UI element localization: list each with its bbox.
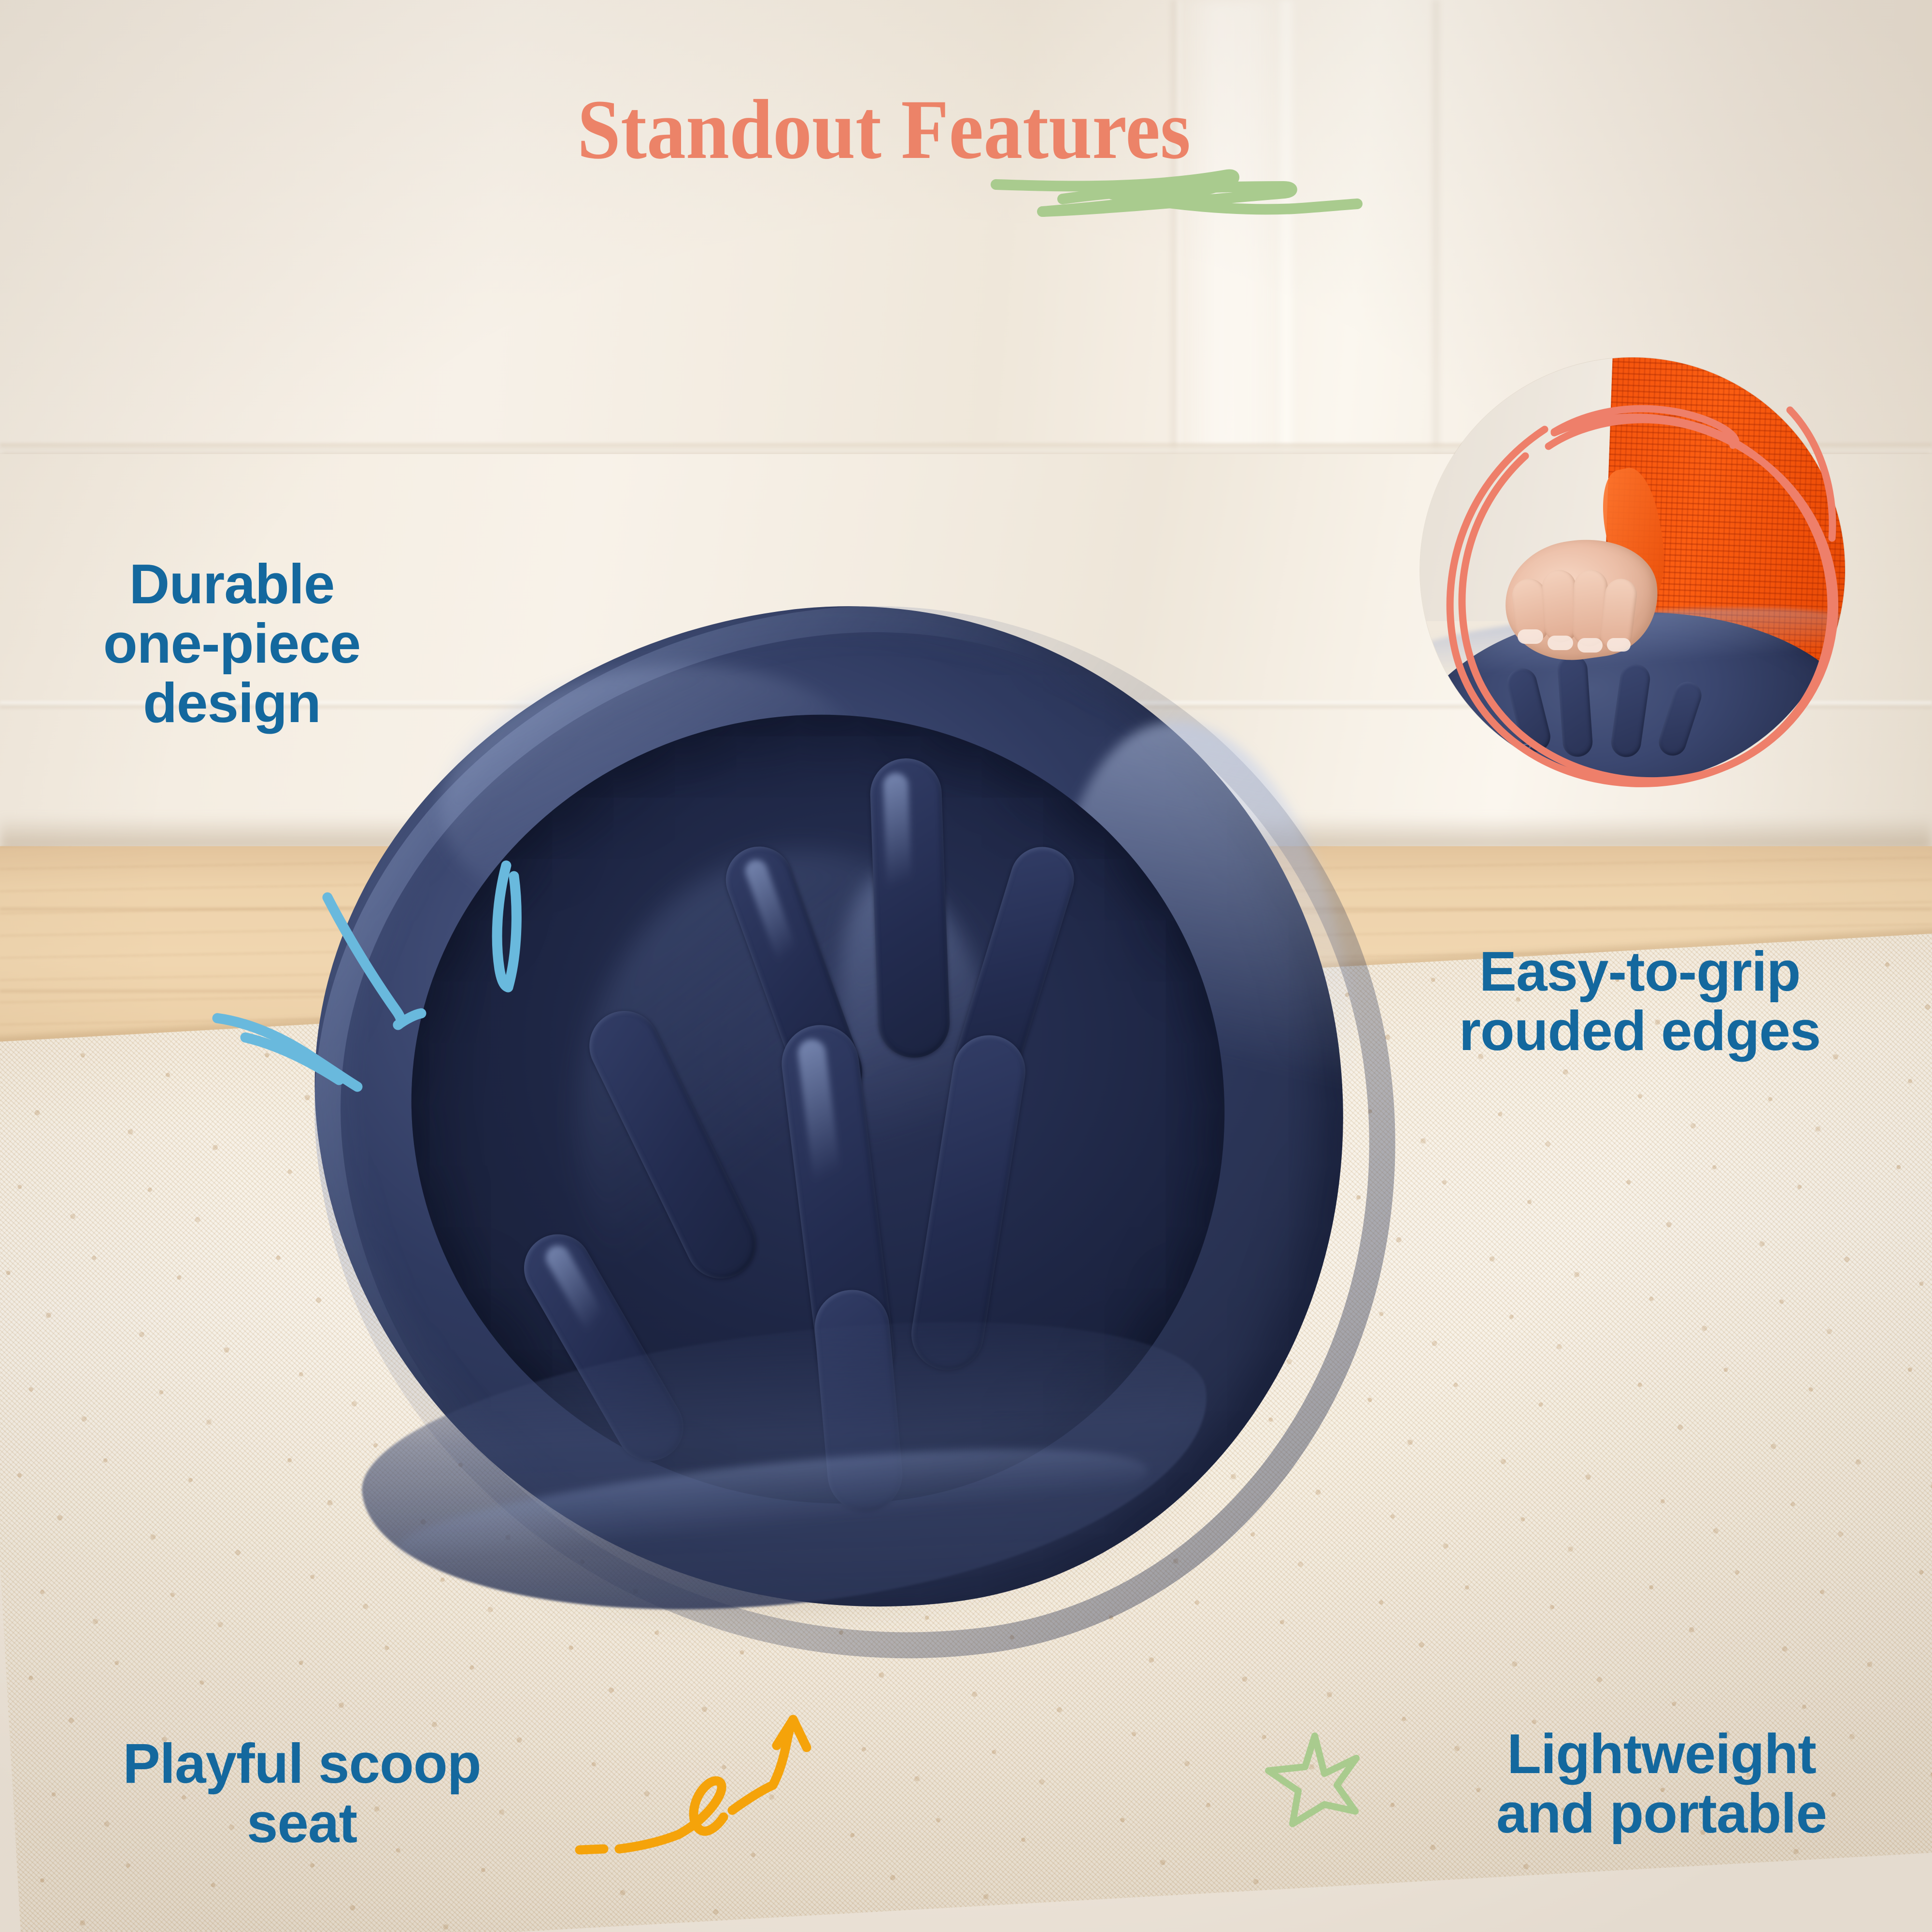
- label-line: Lightweight: [1415, 1724, 1908, 1784]
- fingernail: [1518, 629, 1543, 644]
- label-line: Easy-to-grip: [1396, 942, 1884, 1001]
- label-line: seat: [77, 1793, 526, 1853]
- fingernail: [1577, 638, 1603, 653]
- label-line: Durable: [63, 554, 401, 614]
- label-line: and portable: [1415, 1784, 1908, 1843]
- inset-photo: ECR 4KIDS ecr4kids.com: [1420, 357, 1845, 782]
- feature-label-durable: Durable one-piece design: [63, 554, 401, 733]
- chair-body: [309, 599, 1386, 1652]
- ecr4kids-embossed-logo: ECR 4KIDS ecr4kids.com: [1504, 737, 1599, 773]
- feature-label-playful-scoop-seat: Playful scoop seat: [77, 1734, 526, 1853]
- product-scoop-chair: [309, 599, 1401, 1686]
- feature-label-easy-to-grip: Easy-to-grip rouded edges: [1396, 942, 1884, 1061]
- feature-label-lightweight-portable: Lightweight and portable: [1415, 1724, 1908, 1843]
- grip-detail-inset: ECR 4KIDS ecr4kids.com: [1420, 357, 1845, 782]
- fingernail: [1607, 638, 1630, 652]
- label-line: design: [63, 673, 401, 733]
- feature-graphic-canvas: ECR 4KIDS ecr4kids.com Standout Features…: [0, 0, 1932, 1932]
- label-line: Playful scoop: [77, 1734, 526, 1793]
- fingernail: [1548, 636, 1573, 650]
- label-line: one-piece: [63, 614, 401, 673]
- label-line: rouded edges: [1396, 1001, 1884, 1061]
- squiggle-underline-icon: [985, 155, 1372, 241]
